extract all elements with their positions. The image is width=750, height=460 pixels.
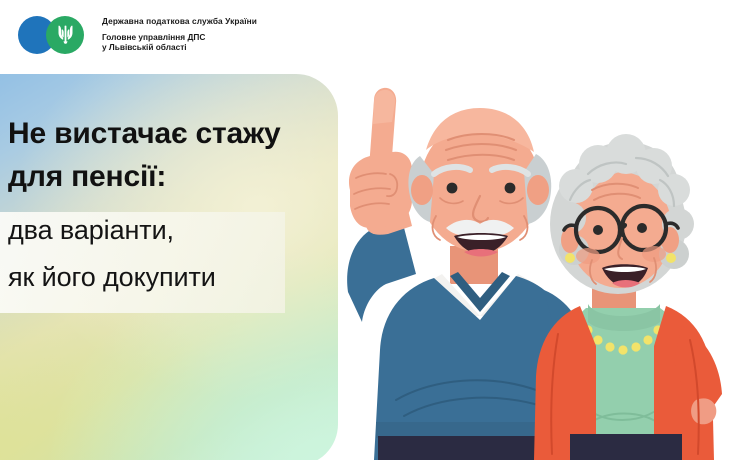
header-logo-lockup: Державна податкова служба України Головн… — [0, 0, 750, 68]
man-eye-right — [505, 183, 516, 194]
org-text-block: Державна податкова служба України Головн… — [102, 16, 257, 53]
earring-left-icon — [565, 253, 575, 263]
poster-text-block: Не вистачає стажу для пенсії: два варіан… — [0, 112, 300, 301]
poster-canvas: Державна податкова служба України Головн… — [0, 0, 750, 460]
headline-line2: для пенсії: — [0, 155, 300, 198]
man-eye-left — [447, 183, 458, 194]
headline-line1: Не вистачає стажу — [0, 112, 300, 155]
earring-right-icon — [666, 253, 676, 263]
subline-line2: як його докупити — [0, 254, 300, 301]
woman-eye-right — [637, 223, 647, 233]
org-title: Державна податкова служба України — [102, 16, 257, 27]
elderly-couple-illustration — [330, 78, 730, 460]
ukrainian-trident-icon — [57, 24, 74, 46]
org-unit-block: Головне управління ДПС у Львівській обла… — [102, 27, 257, 53]
org-unit-line2: у Львівській області — [102, 42, 257, 53]
logo-circle-green-icon — [46, 16, 84, 54]
dps-logo — [18, 14, 90, 54]
org-unit-line1: Головне управління ДПС — [102, 32, 257, 43]
pointing-up-hand-icon — [349, 88, 412, 228]
subline-line1: два варіанти, — [0, 198, 300, 254]
woman-eye-left — [593, 225, 603, 235]
elderly-woman — [534, 134, 722, 460]
